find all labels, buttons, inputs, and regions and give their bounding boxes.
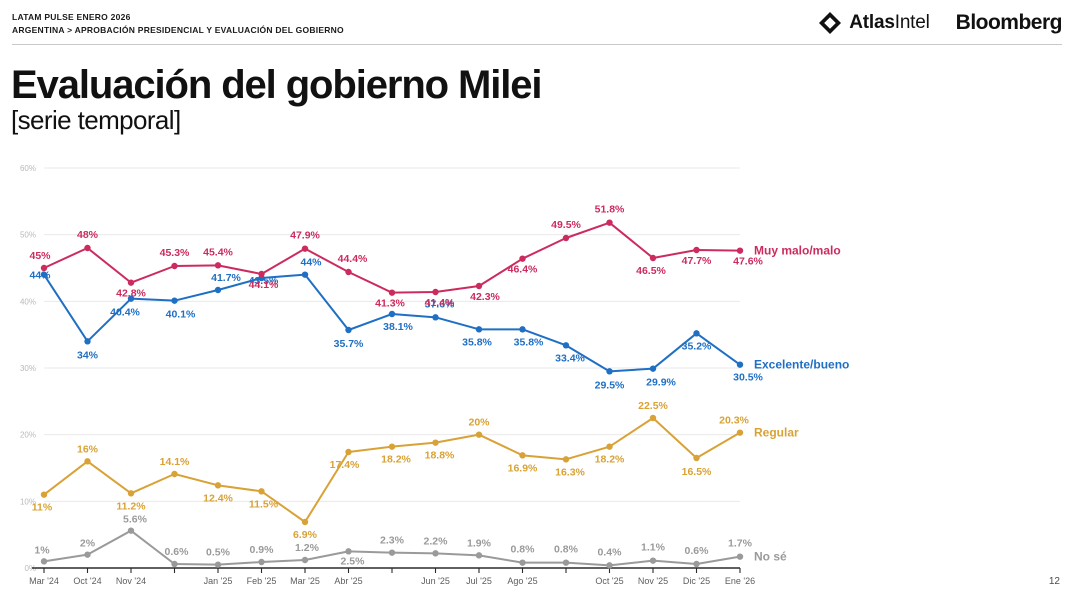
- data-point[interactable]: [519, 559, 525, 565]
- data-point[interactable]: [171, 263, 177, 269]
- data-point-label: 2%: [80, 538, 96, 550]
- x-axis-tick-label: Jun '25: [421, 576, 450, 586]
- data-point[interactable]: [215, 287, 221, 293]
- data-point[interactable]: [650, 365, 656, 371]
- data-point-label: 41.7%: [211, 272, 241, 284]
- data-point[interactable]: [389, 289, 395, 295]
- x-axis-tick-label: Dic '25: [683, 576, 710, 586]
- data-point-label: 0.9%: [250, 544, 275, 556]
- data-point[interactable]: [84, 338, 90, 344]
- data-point-label: 33.4%: [555, 352, 585, 364]
- data-point-label: 2.2%: [424, 535, 449, 547]
- data-point[interactable]: [650, 557, 656, 563]
- data-point-label: 1.9%: [467, 537, 492, 549]
- data-point[interactable]: [258, 559, 264, 565]
- data-point[interactable]: [737, 247, 743, 253]
- atlas-word: Atlas: [849, 12, 894, 33]
- data-point-label: 34%: [77, 349, 99, 361]
- data-point-label: 40.4%: [110, 307, 140, 319]
- x-axis-tick-label: Ago '25: [507, 576, 537, 586]
- series-muy-malo-malo: 45%48%42.8%45.3%45.4%44.1%47.9%44.4%41.3…: [29, 204, 840, 310]
- data-point[interactable]: [345, 327, 351, 333]
- data-point-label: 1.7%: [728, 538, 753, 550]
- data-point[interactable]: [302, 557, 308, 563]
- y-axis-tick-label: 50%: [20, 231, 36, 240]
- data-point-label: 2.3%: [380, 535, 405, 547]
- data-point-label: 0.4%: [598, 546, 623, 558]
- data-point[interactable]: [302, 271, 308, 277]
- data-point[interactable]: [693, 561, 699, 567]
- data-point-label: 30.5%: [733, 372, 763, 384]
- x-axis-tick-label: Mar '24: [29, 576, 59, 586]
- data-point[interactable]: [345, 548, 351, 554]
- data-point-label: 11%: [32, 502, 53, 514]
- page-number: 12: [1049, 576, 1060, 587]
- data-point-label: 45.4%: [203, 246, 233, 258]
- data-point[interactable]: [84, 458, 90, 464]
- data-point-label: 0.8%: [554, 544, 579, 556]
- slide-root: LATAM PULSE ENERO 2026 ARGENTINA > APROB…: [0, 0, 1074, 593]
- header-logos: AtlasIntel Bloomberg: [818, 11, 1062, 35]
- data-point-label: 35.2%: [682, 340, 712, 352]
- data-point[interactable]: [389, 443, 395, 449]
- data-point-label: 35.8%: [462, 336, 492, 348]
- data-point[interactable]: [171, 561, 177, 567]
- data-point-label: 6.9%: [293, 529, 318, 541]
- data-point[interactable]: [693, 247, 699, 253]
- data-point-label: 18.2%: [595, 454, 625, 466]
- data-point-label: 20.3%: [719, 415, 749, 427]
- y-axis-tick-label: 20%: [20, 431, 36, 440]
- data-point-label: 38.1%: [383, 321, 413, 333]
- data-point-label: 2.5%: [341, 555, 366, 567]
- data-point[interactable]: [432, 550, 438, 556]
- legend-label-excelente-bueno: Excelente/bueno: [754, 358, 849, 372]
- data-point[interactable]: [476, 326, 482, 332]
- series-no-s: 1%2%5.6%0.6%0.5%0.9%1.2%2.5%2.3%2.2%1.9%…: [34, 514, 787, 569]
- data-point[interactable]: [519, 255, 525, 261]
- x-axis-tick-label: Oct '25: [595, 576, 623, 586]
- data-point[interactable]: [563, 456, 569, 462]
- data-point-label: 44.1%: [249, 279, 279, 291]
- x-axis-tick-label: Nov '24: [116, 576, 146, 586]
- series-excelente-bueno: 44%34%40.4%40.1%41.7%43.5%44%35.7%38.1%3…: [29, 257, 849, 392]
- data-point-label: 49.5%: [551, 219, 581, 231]
- data-point-label: 45.3%: [160, 247, 190, 259]
- data-point[interactable]: [215, 561, 221, 567]
- data-point[interactable]: [41, 558, 47, 564]
- data-point-label: 11.2%: [116, 500, 146, 512]
- data-point-label: 16%: [77, 443, 99, 455]
- data-point-label: 5.6%: [123, 514, 148, 526]
- data-point-label: 12.4%: [203, 492, 233, 504]
- data-point[interactable]: [84, 245, 90, 251]
- data-point[interactable]: [606, 562, 612, 568]
- data-point-label: 1%: [34, 544, 50, 556]
- series-line: [44, 223, 740, 293]
- x-axis-tick-label: Mar '25: [290, 576, 320, 586]
- data-point[interactable]: [345, 449, 351, 455]
- timeseries-chart: 0%10%20%30%40%50%60%Mar '24Oct '24Nov '2…: [0, 150, 1074, 593]
- data-point[interactable]: [258, 271, 264, 277]
- data-point-label: 1.1%: [641, 542, 666, 554]
- data-point-label: 0.8%: [511, 544, 536, 556]
- atlasintel-logo-text: AtlasIntel: [849, 12, 929, 34]
- data-point[interactable]: [171, 297, 177, 303]
- data-point[interactable]: [563, 235, 569, 241]
- bloomberg-logo: Bloomberg: [956, 11, 1062, 35]
- page-subtitle: [serie temporal]: [11, 104, 181, 136]
- data-point-label: 48%: [77, 229, 99, 241]
- data-point[interactable]: [84, 551, 90, 557]
- page-title: Evaluación del gobierno Milei: [11, 62, 541, 108]
- data-point-label: 1.2%: [295, 542, 320, 554]
- data-point-label: 11.5%: [249, 498, 279, 510]
- legend-label-no-s: No sé: [754, 550, 787, 564]
- data-point-label: 16.3%: [555, 466, 585, 478]
- data-point[interactable]: [258, 488, 264, 494]
- data-point-label: 41.3%: [375, 298, 405, 310]
- header-pulse-title: LATAM PULSE ENERO 2026: [12, 11, 344, 24]
- legend-label-regular: Regular: [754, 426, 799, 440]
- data-point[interactable]: [345, 269, 351, 275]
- data-point[interactable]: [563, 559, 569, 565]
- data-point-label: 0.5%: [206, 547, 231, 559]
- series-line: [44, 418, 740, 522]
- data-point-label: 46.4%: [508, 264, 538, 276]
- data-point[interactable]: [215, 262, 221, 268]
- header-breadcrumb-block: LATAM PULSE ENERO 2026 ARGENTINA > APROB…: [12, 11, 344, 37]
- data-point-label: 40.1%: [166, 309, 196, 321]
- data-point[interactable]: [128, 279, 134, 285]
- data-point-label: 20%: [468, 417, 490, 429]
- data-point-label: 45%: [29, 250, 51, 262]
- data-point[interactable]: [476, 552, 482, 558]
- x-axis-tick-label: Jan '25: [204, 576, 233, 586]
- x-axis-tick-label: Abr '25: [334, 576, 362, 586]
- data-point[interactable]: [693, 330, 699, 336]
- data-point[interactable]: [737, 361, 743, 367]
- data-point-label: 29.9%: [646, 377, 676, 389]
- data-point[interactable]: [563, 342, 569, 348]
- data-point-label: 16.5%: [682, 466, 712, 478]
- data-point[interactable]: [693, 455, 699, 461]
- data-point-label: 51.8%: [595, 204, 625, 216]
- data-point-label: 0.6%: [165, 546, 190, 558]
- x-axis-tick-label: Ene '26: [725, 576, 755, 586]
- data-point[interactable]: [41, 265, 47, 271]
- data-point-label: 18.8%: [425, 450, 455, 462]
- data-point-label: 35.7%: [334, 338, 364, 350]
- x-axis-tick-label: Oct '24: [73, 576, 101, 586]
- data-point-label: 18.2%: [381, 454, 411, 466]
- header-divider: [12, 44, 1062, 45]
- data-point[interactable]: [737, 553, 743, 559]
- atlas-diamond-icon: [818, 11, 842, 35]
- data-point[interactable]: [519, 452, 525, 458]
- data-point[interactable]: [128, 527, 134, 533]
- breadcrumb: ARGENTINA > APROBACIÓN PRESIDENCIAL Y EV…: [12, 24, 344, 37]
- data-point-label: 44%: [29, 270, 51, 282]
- data-point-label: 42.3%: [470, 291, 500, 303]
- data-point[interactable]: [302, 245, 308, 251]
- y-axis-tick-label: 60%: [20, 164, 36, 173]
- data-point[interactable]: [432, 314, 438, 320]
- y-axis-tick-label: 40%: [20, 297, 36, 306]
- data-point[interactable]: [737, 429, 743, 435]
- data-point[interactable]: [171, 471, 177, 477]
- data-point[interactable]: [215, 482, 221, 488]
- data-point[interactable]: [432, 439, 438, 445]
- data-point[interactable]: [41, 491, 47, 497]
- data-point-label: 17.4%: [330, 459, 360, 471]
- data-point[interactable]: [650, 255, 656, 261]
- data-point-label: 14.1%: [160, 456, 190, 468]
- data-point-label: 29.5%: [595, 379, 625, 391]
- data-point[interactable]: [606, 368, 612, 374]
- data-point-label: 46.5%: [636, 265, 666, 277]
- data-point-label: 0.6%: [685, 545, 710, 557]
- data-point-label: 44.4%: [338, 253, 368, 265]
- data-point-label: 42.8%: [116, 288, 146, 300]
- x-axis-tick-label: Nov '25: [638, 576, 668, 586]
- data-point-label: 47.7%: [682, 255, 712, 267]
- data-point-label: 22.5%: [638, 400, 668, 412]
- data-point[interactable]: [606, 443, 612, 449]
- data-point[interactable]: [128, 490, 134, 496]
- data-point[interactable]: [476, 283, 482, 289]
- data-point-label: 16.9%: [508, 462, 538, 474]
- y-axis-tick-label: 30%: [20, 364, 36, 373]
- data-point[interactable]: [476, 431, 482, 437]
- data-point[interactable]: [432, 289, 438, 295]
- data-point[interactable]: [519, 326, 525, 332]
- legend-label-muy-malo-malo: Muy malo/malo: [754, 244, 841, 258]
- x-axis-tick-label: Jul '25: [466, 576, 492, 586]
- x-axis-tick-label: Feb '25: [247, 576, 277, 586]
- data-point-label: 35.8%: [514, 336, 544, 348]
- data-point[interactable]: [606, 219, 612, 225]
- intel-word: Intel: [895, 12, 930, 33]
- data-point-label: 44%: [300, 257, 322, 269]
- data-point[interactable]: [302, 519, 308, 525]
- data-point-label: 47.9%: [290, 230, 320, 242]
- data-point-label: 41.4%: [425, 297, 455, 309]
- atlasintel-logo: AtlasIntel: [818, 11, 929, 35]
- data-point[interactable]: [389, 549, 395, 555]
- data-point[interactable]: [389, 311, 395, 317]
- data-point[interactable]: [650, 415, 656, 421]
